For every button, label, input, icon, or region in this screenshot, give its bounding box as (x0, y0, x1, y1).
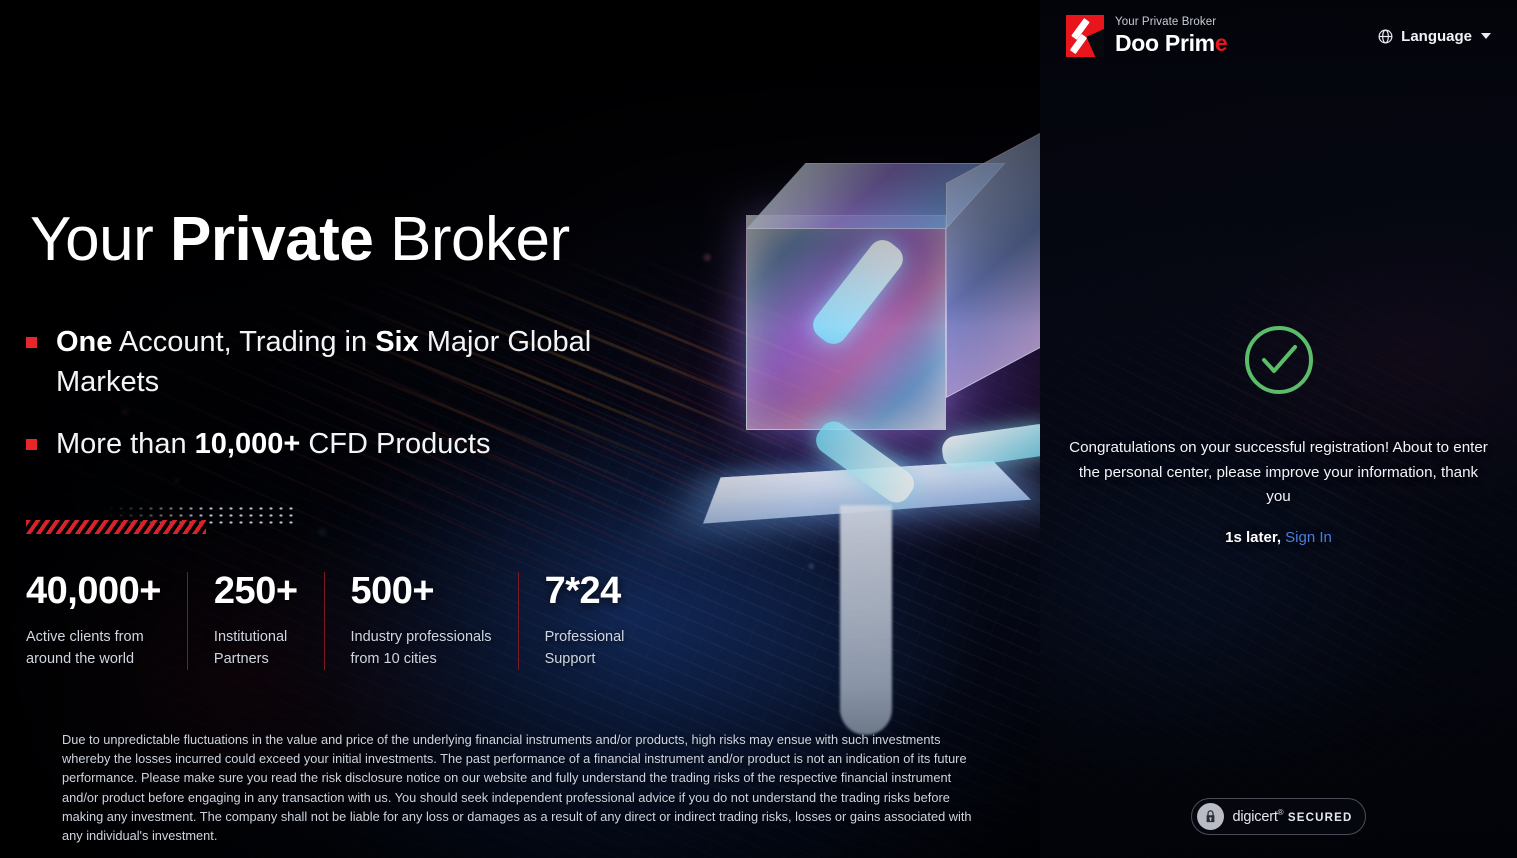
language-selector[interactable]: Language (1377, 28, 1491, 45)
check-circle-icon (1244, 325, 1314, 400)
stat-item: 250+ Institutional Partners (187, 572, 324, 670)
brand-name-main: Doo Prim (1115, 30, 1215, 56)
headline-strong: Private (170, 205, 373, 274)
bullet-text: More than 10,000+ CFD Products (56, 424, 490, 464)
stat-item: 500+ Industry professionals from 10 citi… (324, 572, 518, 670)
trademark-symbol: ® (1278, 808, 1284, 817)
headline-prefix: Your (30, 205, 170, 274)
countdown-row: 1s later, Sign In (1225, 529, 1332, 546)
stat-item: 40,000+ Active clients from around the w… (26, 572, 187, 670)
bullet-emphasis: 10,000+ (195, 428, 301, 460)
digicert-secured-badge: digicert® SECURED (1191, 798, 1367, 835)
bullet-square-icon (26, 439, 37, 450)
bullet-mid: Account, Trading in (112, 326, 375, 358)
digicert-name: digicert® (1233, 809, 1284, 825)
page-title: Your Private Broker (30, 207, 570, 272)
list-item: One Account, Trading in Six Major Global… (26, 322, 616, 402)
bullet-text: One Account, Trading in Six Major Global… (56, 322, 616, 402)
doo-prime-logo-icon (1066, 15, 1104, 57)
stat-value: 250+ (214, 572, 298, 612)
bullet-prefix: More than (56, 428, 195, 460)
language-label: Language (1401, 28, 1472, 45)
lock-icon (1197, 803, 1224, 830)
stat-value: 40,000+ (26, 572, 161, 612)
risk-disclaimer-text: Due to unpredictable fluctuations in the… (62, 730, 972, 845)
globe-icon (1377, 28, 1394, 45)
stat-value: 500+ (351, 572, 492, 612)
bullet-suffix: CFD Products (300, 428, 490, 460)
bullet-emphasis: One (56, 326, 112, 358)
hero-panel: Your Private Broker One Account, Trading… (0, 0, 1040, 858)
bullet-emphasis-2: Six (375, 326, 419, 358)
chevron-down-icon (1481, 33, 1491, 39)
success-message: Congratulations on your successful regis… (1069, 436, 1489, 510)
registration-success-page: Your Private Broker One Account, Trading… (0, 0, 1517, 858)
stat-item: 7*24 Professional Support (518, 572, 651, 670)
brand-tagline: Your Private Broker (1115, 17, 1227, 29)
stat-label: Industry professionals from 10 cities (351, 626, 492, 670)
stat-value: 7*24 (545, 572, 625, 612)
countdown-text: 1s later, (1225, 529, 1281, 546)
stat-label: Active clients from around the world (26, 626, 161, 670)
bullet-square-icon (26, 337, 37, 348)
brand-name-accent: e (1215, 30, 1228, 56)
stats-row: 40,000+ Active clients from around the w… (26, 572, 650, 670)
registration-status-panel: Your Private Broker Doo Prime Language (1040, 0, 1517, 858)
panel-header: Your Private Broker Doo Prime Language (1040, 0, 1517, 72)
sign-in-link[interactable]: Sign In (1285, 529, 1332, 546)
feature-bullet-list: One Account, Trading in Six Major Global… (26, 322, 616, 486)
decorative-divider (26, 505, 298, 535)
red-stripe-decoration (26, 520, 206, 534)
digicert-subtitle: SECURED (1288, 812, 1353, 824)
brand-name: Doo Prime (1115, 32, 1227, 55)
brand-logo[interactable]: Your Private Broker Doo Prime (1066, 15, 1227, 57)
headline-suffix: Broker (373, 205, 569, 274)
stat-label: Institutional Partners (214, 626, 298, 670)
stat-label: Professional Support (545, 626, 625, 670)
list-item: More than 10,000+ CFD Products (26, 424, 616, 464)
